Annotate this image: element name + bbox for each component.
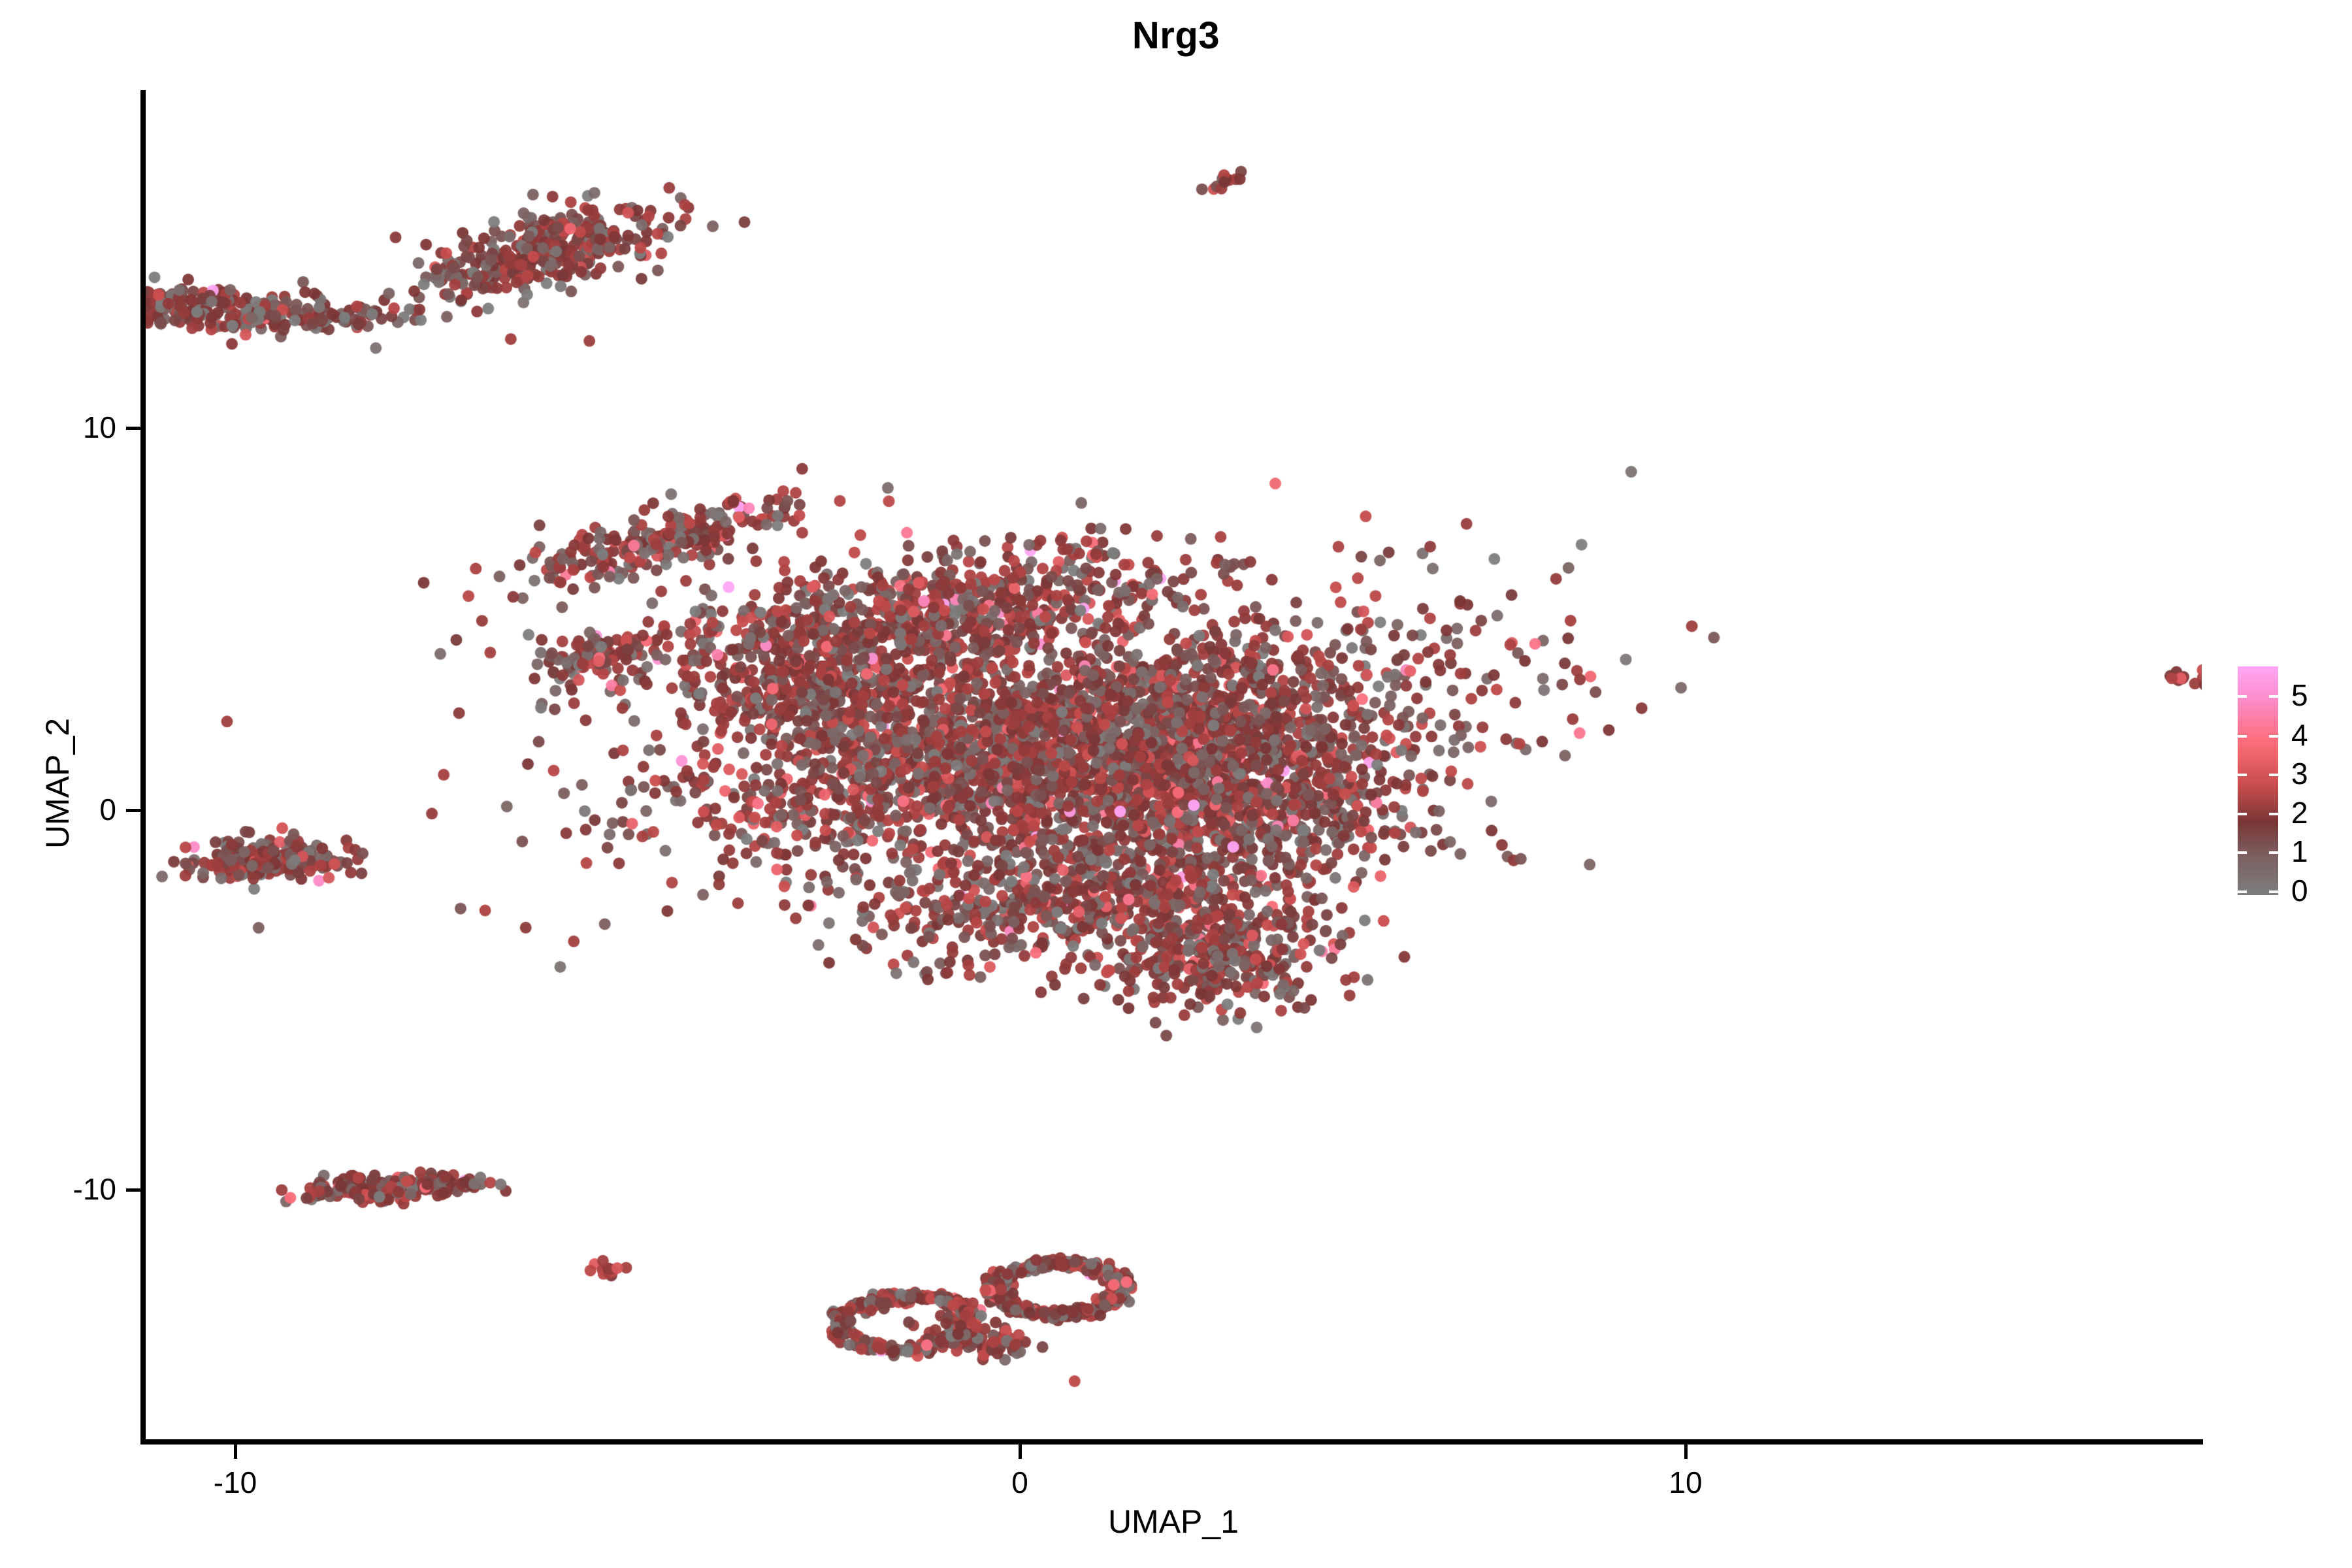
y-tick-label: -10: [0, 1171, 116, 1207]
color-legend: 543210: [2238, 666, 2342, 895]
legend-colorbar: [2238, 666, 2278, 895]
y-axis-title: UMAP_2: [39, 391, 76, 1175]
page-title: Nrg3: [0, 7, 2352, 65]
x-axis-line: [140, 1439, 2203, 1445]
y-axis-line: [140, 90, 146, 1443]
x-tick-mark: [1684, 1445, 1688, 1459]
legend-tick-mark: [2269, 735, 2278, 738]
legend-tick-mark: [2269, 774, 2278, 776]
legend-tick-mark: [2238, 890, 2247, 893]
legend-tick-mark: [2238, 813, 2247, 815]
x-tick-label: -10: [137, 1465, 333, 1500]
legend-tick-label: 0: [2291, 875, 2308, 906]
y-tick-mark: [126, 809, 140, 812]
x-tick-mark: [1019, 1445, 1022, 1459]
legend-tick-mark: [2269, 813, 2278, 815]
legend-tick-mark: [2269, 890, 2278, 893]
figure-root: Nrg3 100-10-10010 UMAP_1 UMAP_2 543210: [0, 0, 2352, 1568]
legend-tick-mark: [2238, 735, 2247, 738]
y-tick-mark: [126, 427, 140, 430]
x-tick-label: 0: [922, 1465, 1118, 1500]
plot-panel: [145, 90, 2202, 1439]
x-tick-mark: [234, 1445, 237, 1459]
legend-tick-mark: [2238, 851, 2247, 854]
legend-tick-label: 1: [2291, 836, 2308, 866]
legend-tick-label: 5: [2291, 680, 2308, 710]
legend-tick-label: 2: [2291, 798, 2308, 828]
legend-tick-mark: [2238, 695, 2247, 698]
legend-tick-label: 4: [2291, 720, 2308, 750]
x-axis-title: UMAP_1: [145, 1503, 2202, 1541]
y-tick-mark: [126, 1188, 140, 1192]
legend-tick-mark: [2238, 774, 2247, 776]
scatter-plot-canvas: [145, 90, 2202, 1439]
legend-tick-mark: [2269, 695, 2278, 698]
x-tick-label: 10: [1588, 1465, 1784, 1500]
legend-tick-label: 3: [2291, 759, 2308, 789]
legend-tick-mark: [2269, 851, 2278, 854]
